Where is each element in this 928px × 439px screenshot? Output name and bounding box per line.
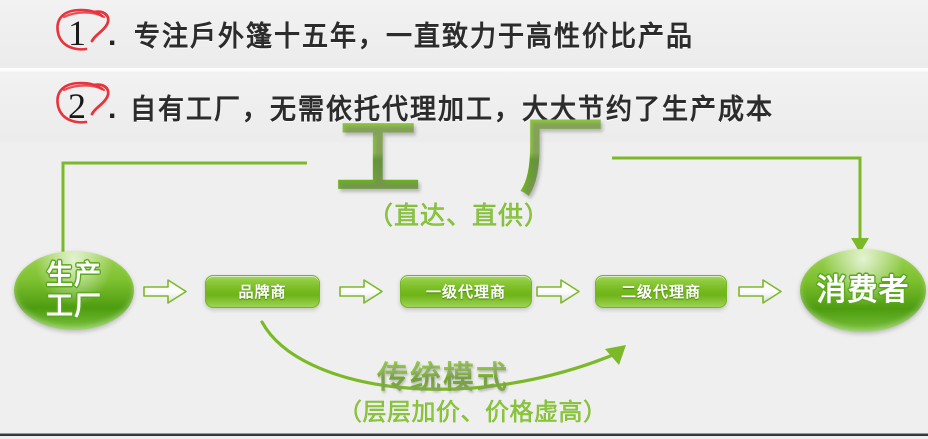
promo-banner: 1 . 专注戶外篷十五年，一直致力于高性价比产品 2 . 自有工厂，无需依托代理… [0,0,928,439]
node-production-line1: 生产 [46,260,102,291]
flow-arrow-icon-2 [338,278,384,305]
flow-arrow-icon-4 [737,278,783,305]
flow-arrow-icon-1 [142,278,188,305]
node-production-line2: 工厂 [46,291,102,322]
traditional-model-subtitle: （层层加价、价格虚高） [338,392,608,427]
node-tier2-agent: 二级代理商 [595,275,727,308]
direct-path-right [612,158,860,240]
node-consumer-label: 消费者 [817,274,910,308]
flow-arrow-icon-3 [535,278,581,305]
factory-subtitle: （直达、直供） [368,196,550,232]
node-tier1-agent: 一级代理商 [400,275,532,308]
node-brand-owner: 品牌商 [205,275,320,308]
direct-path-left [63,163,307,258]
arrowhead-upright-icon [605,345,626,365]
node-production-factory: 生产 工厂 [14,251,134,330]
node-consumer: 消费者 [800,249,926,332]
node-tier2-agent-label: 二级代理商 [621,281,701,302]
footer-rule [0,433,928,436]
traditional-model-label: 传统模式 [377,352,509,397]
node-tier1-agent-label: 一级代理商 [426,281,506,302]
factory-title: 工 厂 [335,112,605,204]
factory-headline: 工 厂 [335,112,605,204]
node-brand-owner-label: 品牌商 [238,281,286,302]
